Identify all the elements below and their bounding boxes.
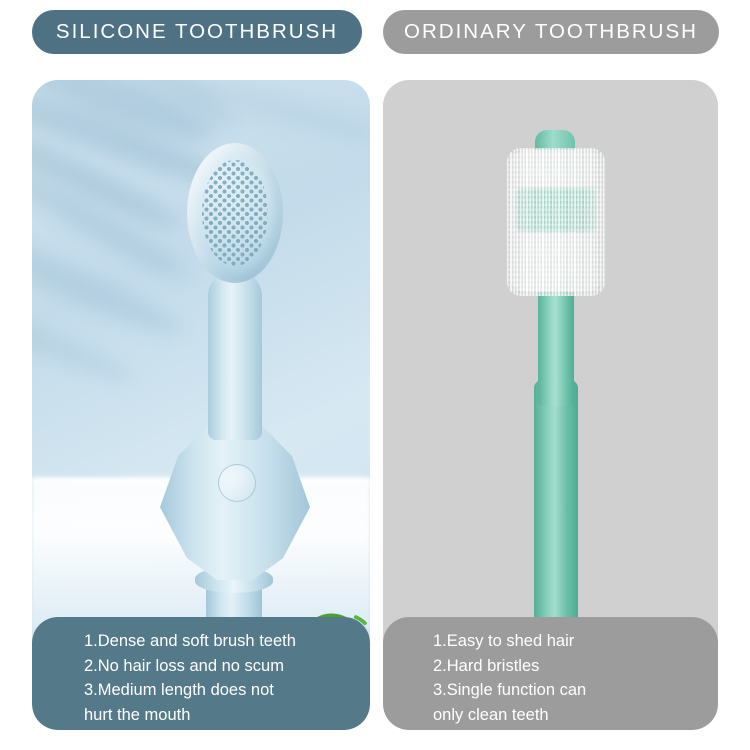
right-feature-3: 3.Single function can [433, 678, 704, 703]
left-header-label: SILICONE TOOTHBRUSH [56, 20, 338, 44]
left-feature-1: 1.Dense and soft brush teeth [84, 629, 356, 654]
silicone-brush-head [187, 143, 283, 283]
right-header-pill: ORDINARY TOOTHBRUSH [383, 10, 719, 54]
left-feature-3: 3.Medium length does not [84, 678, 356, 703]
right-feature-2: 2.Hard bristles [433, 654, 704, 679]
silicone-bristle-dots [202, 160, 268, 266]
left-product-panel: 1.Dense and soft brush teeth 2.No hair l… [32, 80, 370, 730]
left-feature-list: 1.Dense and soft brush teeth 2.No hair l… [32, 617, 370, 730]
right-feature-1: 1.Easy to shed hair [433, 629, 704, 654]
right-header-label: ORDINARY TOOTHBRUSH [404, 20, 698, 44]
right-feature-3-cont: only clean teeth [433, 703, 704, 728]
left-feature-2: 2.No hair loss and no scum [84, 654, 356, 679]
ordinary-bristle-rows [507, 148, 605, 296]
left-feature-3-cont: hurt the mouth [84, 703, 356, 728]
comparison-infographic: SILICONE TOOTHBRUSH ORDINARY TOOTHBRUSH [0, 0, 750, 750]
silicone-brush-neck [208, 272, 262, 440]
right-feature-list: 1.Easy to shed hair 2.Hard bristles 3.Si… [383, 617, 718, 730]
left-header-pill: SILICONE TOOTHBRUSH [32, 10, 362, 54]
right-product-panel: 1.Easy to shed hair 2.Hard bristles 3.Si… [383, 80, 718, 730]
silicone-brush-power-button [218, 464, 256, 502]
